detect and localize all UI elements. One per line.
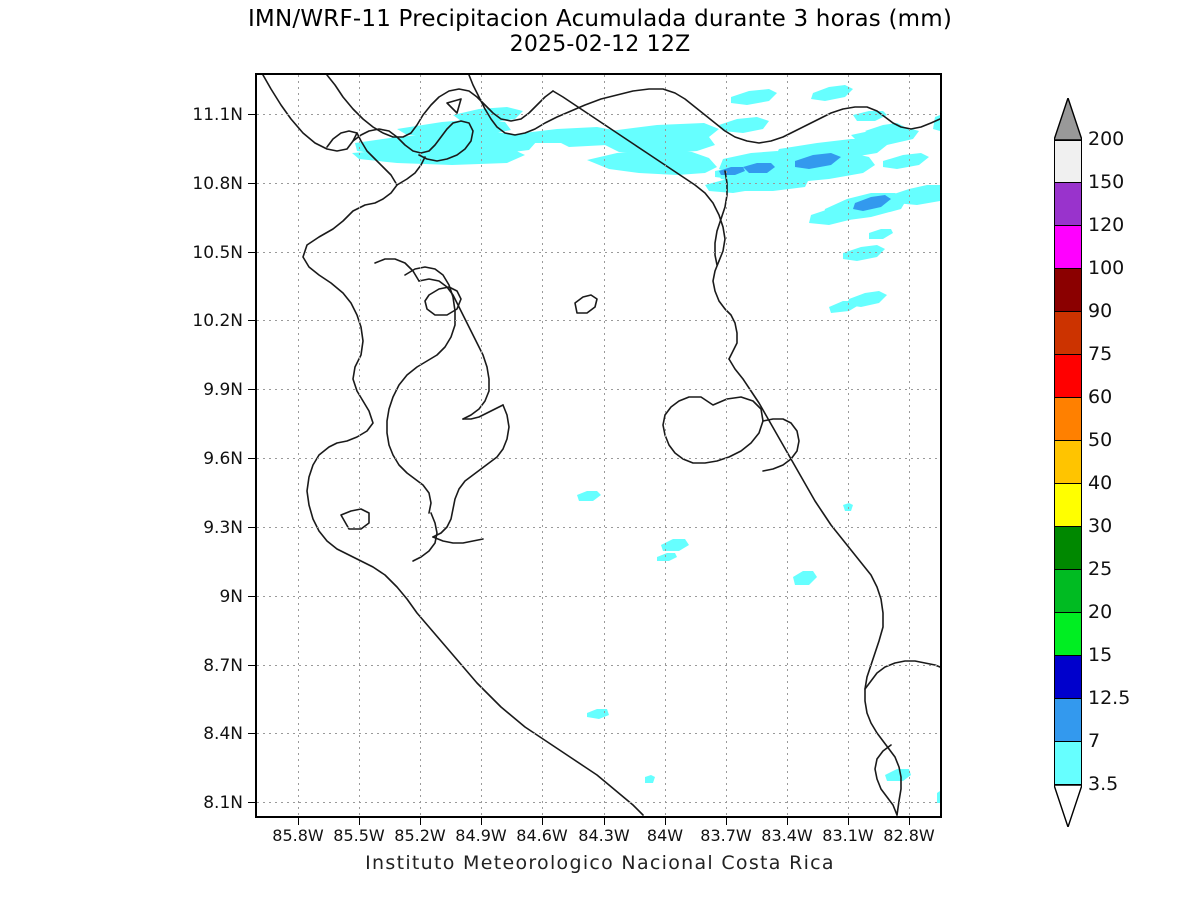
y-axis-label: 8.7N	[203, 656, 243, 676]
colorbar-cell	[1054, 742, 1082, 785]
y-axis-tick	[248, 252, 255, 253]
colorbar-cells	[1054, 140, 1082, 785]
colorbar-label: 3.5	[1088, 775, 1118, 794]
y-axis-tick	[248, 320, 255, 321]
y-axis-tick	[248, 802, 255, 803]
colorbar-cell	[1054, 226, 1082, 269]
x-axis-tick	[359, 818, 360, 825]
colorbar-cell	[1054, 441, 1082, 484]
y-axis-tick	[248, 183, 255, 184]
colorbar-label: 15	[1088, 646, 1112, 665]
gridline-horizontal	[257, 802, 940, 803]
x-axis-tick	[909, 818, 910, 825]
colorbar-cell	[1054, 570, 1082, 613]
gridline-vertical	[542, 75, 543, 816]
gridline-horizontal	[257, 320, 940, 321]
gridline-vertical	[848, 75, 849, 816]
gridline-vertical	[909, 75, 910, 816]
colorbar-label: 150	[1088, 173, 1124, 192]
colorbar-cell	[1054, 527, 1082, 570]
gridline-vertical	[420, 75, 421, 816]
y-axis-label: 10.2N	[192, 311, 243, 331]
y-axis-label: 9.9N	[203, 380, 243, 400]
gridline-horizontal	[257, 389, 940, 390]
y-axis-label: 9N	[219, 587, 243, 607]
colorbar-underflow-arrow	[1054, 785, 1082, 827]
colorbar-cell	[1054, 613, 1082, 656]
y-axis-tick	[248, 458, 255, 459]
gridline-horizontal	[257, 183, 940, 184]
x-axis-tick	[420, 818, 421, 825]
colorbar-cell	[1054, 656, 1082, 699]
colorbar-label: 100	[1088, 259, 1124, 278]
colorbar-cell	[1054, 183, 1082, 226]
colorbar-cell	[1054, 699, 1082, 742]
y-axis-label: 11.1N	[192, 105, 243, 125]
colorbar-label: 7	[1088, 732, 1100, 751]
gridline-horizontal	[257, 665, 940, 666]
title-line-1: IMN/WRF-11 Precipitacion Acumulada duran…	[0, 6, 1200, 32]
colorbar-label: 20	[1088, 603, 1112, 622]
gridline-vertical	[787, 75, 788, 816]
x-axis-tick	[665, 818, 666, 825]
colorbar-label: 30	[1088, 517, 1112, 536]
x-axis-tick	[848, 818, 849, 825]
gridline-vertical	[604, 75, 605, 816]
colorbar-cell	[1054, 269, 1082, 312]
gridline-vertical	[726, 75, 727, 816]
y-axis-tick	[248, 527, 255, 528]
weather-map-figure: IMN/WRF-11 Precipitacion Acumulada duran…	[0, 0, 1200, 900]
gridline-horizontal	[257, 458, 940, 459]
x-axis-tick	[298, 818, 299, 825]
y-axis-tick	[248, 389, 255, 390]
figure-title: IMN/WRF-11 Precipitacion Acumulada duran…	[0, 6, 1200, 58]
colorbar-label: 50	[1088, 431, 1112, 450]
y-axis-tick	[248, 665, 255, 666]
y-axis-label: 9.3N	[203, 518, 243, 538]
x-axis-tick	[542, 818, 543, 825]
precip-layer-light	[352, 85, 940, 803]
colorbar-label: 60	[1088, 388, 1112, 407]
gridline-horizontal	[257, 733, 940, 734]
colorbar-label: 200	[1088, 130, 1124, 149]
y-axis-tick	[248, 596, 255, 597]
colorbar-cell	[1054, 398, 1082, 441]
colorbar-overflow-arrow	[1054, 98, 1082, 140]
colorbar-label: 25	[1088, 560, 1112, 579]
colorbar-label: 120	[1088, 216, 1124, 235]
y-axis-label: 8.4N	[203, 724, 243, 744]
colorbar-label: 12.5	[1088, 689, 1130, 708]
colorbar-cell	[1054, 140, 1082, 183]
y-axis-label: 10.8N	[192, 174, 243, 194]
x-axis-tick	[604, 818, 605, 825]
gridline-vertical	[665, 75, 666, 816]
x-axis-tick	[726, 818, 727, 825]
colorbar-cell	[1054, 355, 1082, 398]
colorbar-label: 40	[1088, 474, 1112, 493]
x-axis-label: 82.8W	[869, 826, 949, 845]
map-canvas	[257, 75, 940, 816]
gridline-horizontal	[257, 114, 940, 115]
colorbar-label: 75	[1088, 345, 1112, 364]
x-axis-tick	[481, 818, 482, 825]
y-axis-label: 9.6N	[203, 449, 243, 469]
colorbar-label: 90	[1088, 302, 1112, 321]
y-axis-label: 10.5N	[192, 243, 243, 263]
y-axis-label: 8.1N	[203, 793, 243, 813]
gridline-vertical	[298, 75, 299, 816]
y-axis-tick	[248, 114, 255, 115]
coastline-layer	[263, 75, 940, 815]
colorbar-cell	[1054, 484, 1082, 527]
figure-footer: Instituto Meteorologico Nacional Costa R…	[0, 852, 1200, 874]
gridline-horizontal	[257, 527, 940, 528]
gridline-vertical	[481, 75, 482, 816]
gridline-horizontal	[257, 252, 940, 253]
gridline-horizontal	[257, 596, 940, 597]
y-axis-tick	[248, 733, 255, 734]
colorbar-cell	[1054, 312, 1082, 355]
title-line-2: 2025-02-12 12Z	[0, 32, 1200, 58]
x-axis-tick	[787, 818, 788, 825]
gridline-vertical	[359, 75, 360, 816]
map-plot-area[interactable]	[255, 73, 942, 818]
